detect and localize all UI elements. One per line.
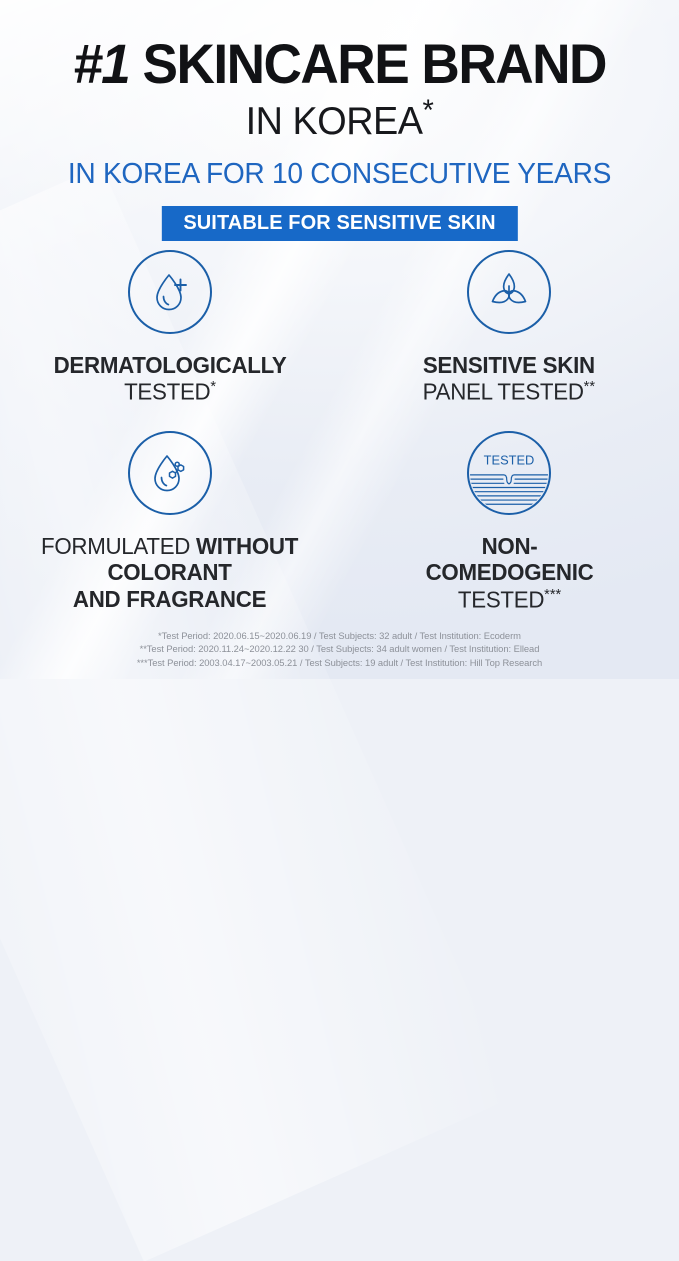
page-title: #1 SKINCARE BRAND: [17, 36, 662, 92]
feature-caption-line1: SENSITIVE SKIN: [423, 352, 595, 378]
feature-footnote-marker: **: [584, 378, 595, 395]
feature-item-non-comedogenic-tested: TESTED NON- COMEDOGENIC TESTED***: [340, 413, 679, 612]
subtitle-footnote-marker: *: [423, 94, 434, 127]
feature-caption-line1-bold: WITHOUT: [196, 533, 298, 559]
feature-caption-line2: PANEL TESTED: [423, 379, 584, 405]
feature-caption: NON- COMEDOGENIC TESTED***: [425, 533, 593, 612]
headline-text: SKINCARE BRAND: [142, 32, 605, 95]
feature-item-dermatologically-tested: DERMATOLOGICALLY TESTED*: [0, 250, 340, 405]
tagline: IN KOREA FOR 10 CONSECUTIVE YEARS: [10, 160, 669, 189]
feature-caption-line1: NON-: [481, 533, 537, 559]
rank-badge-text: #1: [73, 36, 129, 92]
droplet-molecule-icon: [128, 431, 212, 515]
footnotes: *Test Period: 2020.06.15~2020.06.19 / Te…: [0, 629, 679, 669]
droplet-plus-icon: [128, 250, 212, 334]
feature-caption-line3: AND FRAGRANCE: [73, 586, 266, 612]
feature-caption: SENSITIVE SKIN PANEL TESTED**: [423, 352, 595, 405]
feature-caption: DERMATOLOGICALLY TESTED*: [53, 352, 286, 405]
feature-caption-line1: DERMATOLOGICALLY: [53, 352, 286, 378]
feature-caption-line2: COLORANT: [108, 559, 232, 585]
feature-caption-line2: COMEDOGENIC: [425, 559, 593, 585]
feature-footnote-marker: *: [210, 378, 216, 395]
status-badge: SUITABLE FOR SENSITIVE SKIN: [161, 206, 517, 241]
feature-grid: DERMATOLOGICALLY TESTED* SENSITIVE SKIN …: [0, 250, 679, 612]
feature-footnote-marker: ***: [544, 586, 561, 603]
pore-icon-label: TESTED: [484, 453, 535, 468]
feature-caption-line2: TESTED: [124, 379, 210, 405]
subtitle: IN KOREA*: [10, 96, 669, 141]
footnote-line-3: ***Test Period: 2003.04.17~2003.05.21 / …: [0, 656, 679, 669]
feature-caption-line1-light: FORMULATED: [41, 533, 190, 559]
feature-item-sensitive-skin-panel-tested: SENSITIVE SKIN PANEL TESTED**: [340, 250, 679, 405]
feature-caption-line3: TESTED: [458, 586, 544, 612]
subtitle-text: IN KOREA: [246, 100, 423, 143]
footnote-line-2: **Test Period: 2020.11.24~2020.12.22 30 …: [0, 642, 679, 655]
pore-tested-icon: TESTED: [467, 431, 551, 515]
three-leaf-icon: [467, 250, 551, 334]
feature-item-formulated-without-colorant: FORMULATED WITHOUT COLORANT AND FRAGRANC…: [0, 413, 340, 612]
feature-caption: FORMULATED WITHOUT COLORANT AND FRAGRANC…: [41, 533, 298, 612]
infographic-canvas: #1 SKINCARE BRAND IN KOREA* IN KOREA FOR…: [0, 0, 679, 679]
footnote-line-1: *Test Period: 2020.06.15~2020.06.19 / Te…: [0, 629, 679, 642]
